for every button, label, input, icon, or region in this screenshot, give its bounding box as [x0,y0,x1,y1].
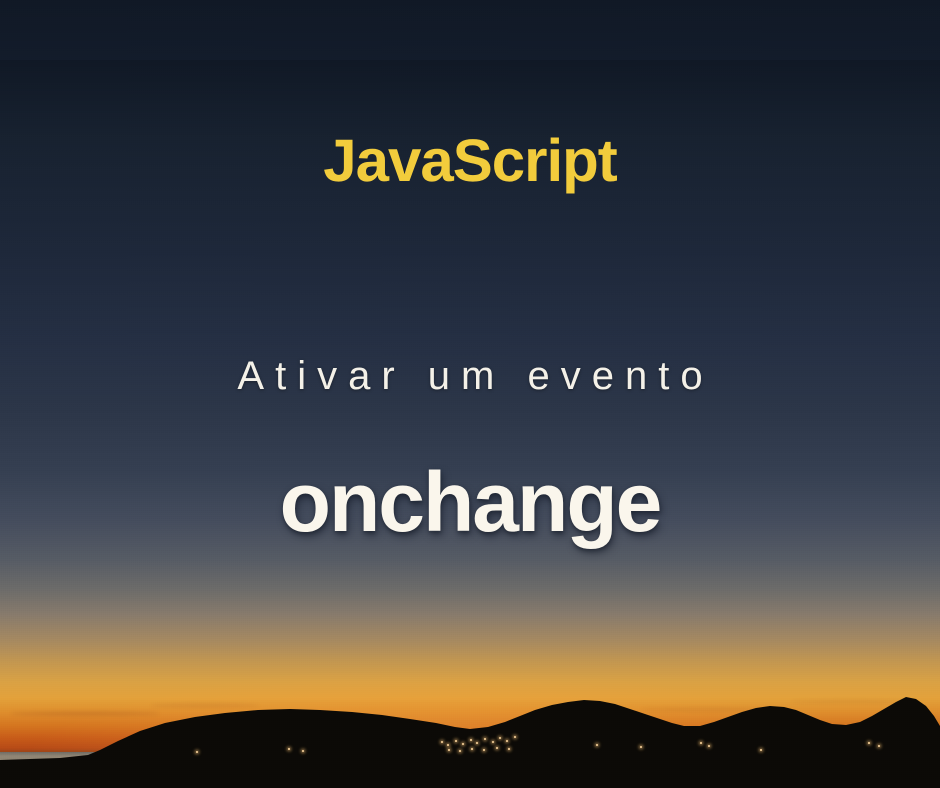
page-title: JavaScript [0,128,940,194]
poster-subtitle: Ativar um evento [0,353,940,399]
sunset-poster: JavaScript Ativar um evento onchange [0,0,940,788]
poster-text-content: JavaScript Ativar um evento onchange [0,0,940,788]
poster-headline: onchange [0,455,940,549]
